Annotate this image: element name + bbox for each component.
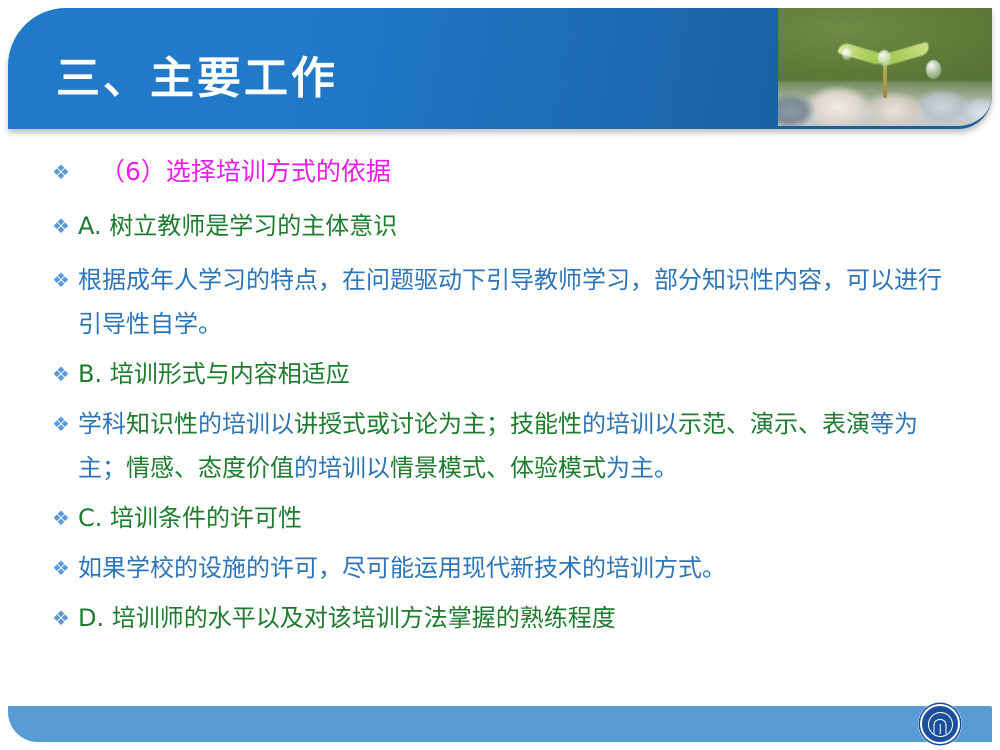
bullet-text: （6）选择培训方式的依据 [78, 150, 960, 194]
bullet-item-b5: ❖学科知识性的培训以讲授式或讨论为主；技能性的培训以示范、演示、表演等为主；情感… [0, 402, 1000, 490]
diamond-bullet-icon: ❖ [52, 204, 78, 248]
diamond-bullet-icon: ❖ [52, 258, 78, 302]
bullet-text: B. 培训形式与内容相适应 [78, 352, 960, 396]
bullet-text-segment: A. 树立教师是学习的主体意识 [78, 212, 397, 240]
bullet-text-segment: 情景模式、体验模式 [390, 454, 606, 482]
slide-body: ❖（6）选择培训方式的依据❖A. 树立教师是学习的主体意识❖根据成年人学习的特点… [0, 150, 1000, 646]
diamond-bullet-icon: ❖ [52, 150, 78, 194]
bullet-item-b3: ❖根据成年人学习的特点，在问题驱动下引导教师学习，部分知识性内容，可以进行引导性… [0, 258, 1000, 346]
photo-water-droplet [842, 48, 852, 60]
page-title: 三、主要工作 [56, 42, 338, 106]
university-emblem-logo [919, 703, 961, 745]
bullet-spacer [0, 640, 1000, 646]
sprout-photo [778, 8, 992, 129]
emblem-inner-circle [928, 712, 953, 737]
emblem-gate-icon [934, 719, 947, 734]
bullet-item-b4: ❖B. 培训形式与内容相适应 [0, 352, 1000, 396]
bullet-text: 如果学校的设施的许可，尽可能运用现代新技术的培训方式。 [78, 546, 960, 590]
bullet-text-segment: 情感、态度价值 [126, 454, 294, 482]
diamond-bullet-icon: ❖ [52, 352, 78, 396]
bullet-item-b1: ❖（6）选择培训方式的依据 [0, 150, 1000, 194]
bullet-text-segment: 的培训以 [582, 410, 678, 438]
bullet-text-segment: C. 培训条件的许可性 [78, 504, 302, 532]
bullet-item-b2: ❖A. 树立教师是学习的主体意识 [0, 204, 1000, 248]
diamond-bullet-icon: ❖ [52, 496, 78, 540]
bullet-text-segment: 的培训以 [294, 454, 390, 482]
bullet-text: A. 树立教师是学习的主体意识 [78, 204, 960, 248]
bullet-text-segment: 的培训以 [198, 410, 294, 438]
bullet-text: D. 培训师的水平以及对该培训方法掌握的熟练程度 [78, 596, 960, 640]
bullet-text-segment: 学科 [78, 410, 126, 438]
bullet-text-segment: 如果学校的设施的许可，尽可能运用现代新技术的培训方式。 [78, 554, 726, 582]
diamond-bullet-icon: ❖ [52, 596, 78, 640]
photo-water-droplet [926, 60, 941, 79]
bullet-spacer [0, 248, 1000, 258]
bullet-item-b7: ❖如果学校的设施的许可，尽可能运用现代新技术的培训方式。 [0, 546, 1000, 590]
bullet-text-segment: 为主。 [606, 454, 678, 482]
bullet-text-segment: D. 培训师的水平以及对该培训方法掌握的熟练程度 [78, 604, 616, 632]
bullet-text: C. 培训条件的许可性 [78, 496, 960, 540]
bullet-text-segment: 讲授式或讨论为主；技能性 [294, 410, 582, 438]
emblem-outer-ring [920, 704, 960, 744]
bullet-text-segment: （6）选择培训方式的依据 [100, 157, 391, 186]
bullet-text-segment: 根据成年人学习的特点，在问题驱动下引导教师学习，部分知识性内容，可以进行引导性自… [78, 266, 942, 338]
bullet-text: 根据成年人学习的特点，在问题驱动下引导教师学习，部分知识性内容，可以进行引导性自… [78, 258, 960, 346]
photo-water-droplet [878, 50, 891, 66]
bullet-text: 学科知识性的培训以讲授式或讨论为主；技能性的培训以示范、演示、表演等为主；情感、… [78, 402, 960, 490]
bullet-text-segment: 知识性 [126, 410, 198, 438]
presentation-slide: 三、主要工作 ❖（6）选择培训方式的依据❖A. 树立教师是学习的主体意识❖根据成… [0, 0, 1000, 750]
diamond-bullet-icon: ❖ [52, 546, 78, 590]
bullet-item-b6: ❖C. 培训条件的许可性 [0, 496, 1000, 540]
bullet-spacer [0, 194, 1000, 204]
footer-bar [8, 706, 992, 742]
bullet-text-segment: 示范、演示、表演 [678, 410, 870, 438]
bullet-text-segment: B. 培训形式与内容相适应 [78, 360, 350, 388]
bullet-item-b8: ❖D. 培训师的水平以及对该培训方法掌握的熟练程度 [0, 596, 1000, 640]
diamond-bullet-icon: ❖ [52, 402, 78, 446]
